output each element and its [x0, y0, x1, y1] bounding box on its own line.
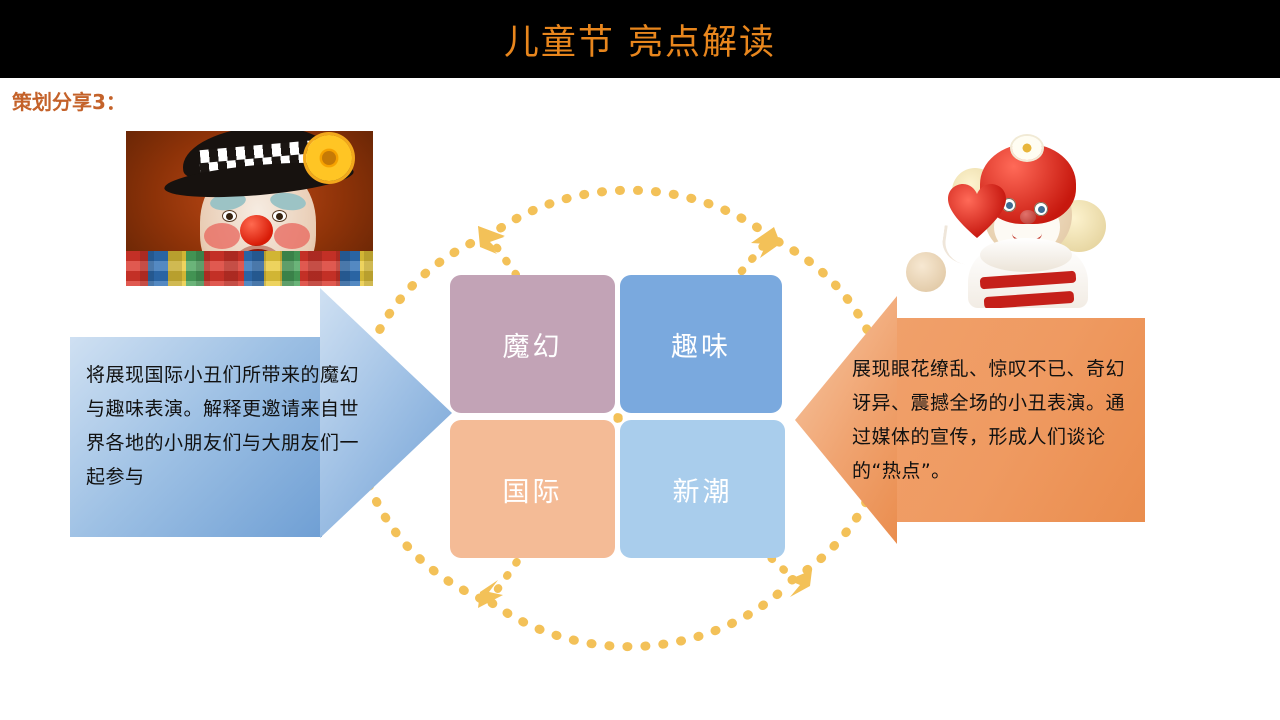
quadrant-label-fun: 趣味 [671, 325, 731, 364]
quadrant-label-trendy: 新潮 [673, 470, 733, 509]
quadrant-label-magic: 魔幻 [503, 325, 563, 364]
quadrant-box-magic[interactable]: 魔幻 [450, 275, 615, 413]
quadrant-box-fun[interactable]: 趣味 [620, 275, 782, 413]
cycle-arc-bottom [492, 583, 790, 647]
cycle-arc-top [492, 190, 772, 238]
quadrant-box-trendy[interactable]: 新潮 [620, 420, 785, 558]
cycle-arrowhead-top-right [751, 227, 779, 258]
right-callout-text: 展现眼花缭乱、惊叹不已、奇幻讶异、震撼全场的小丑表演。通过媒体的宣传，形成人们谈… [852, 352, 1142, 488]
quadrant-box-international[interactable]: 国际 [450, 420, 615, 558]
quadrant-label-international: 国际 [503, 470, 563, 509]
left-callout-text: 将展现国际小丑们所带来的魔幻与趣味表演。解释更邀请来自世界各地的小朋友们与大朋友… [86, 358, 374, 494]
